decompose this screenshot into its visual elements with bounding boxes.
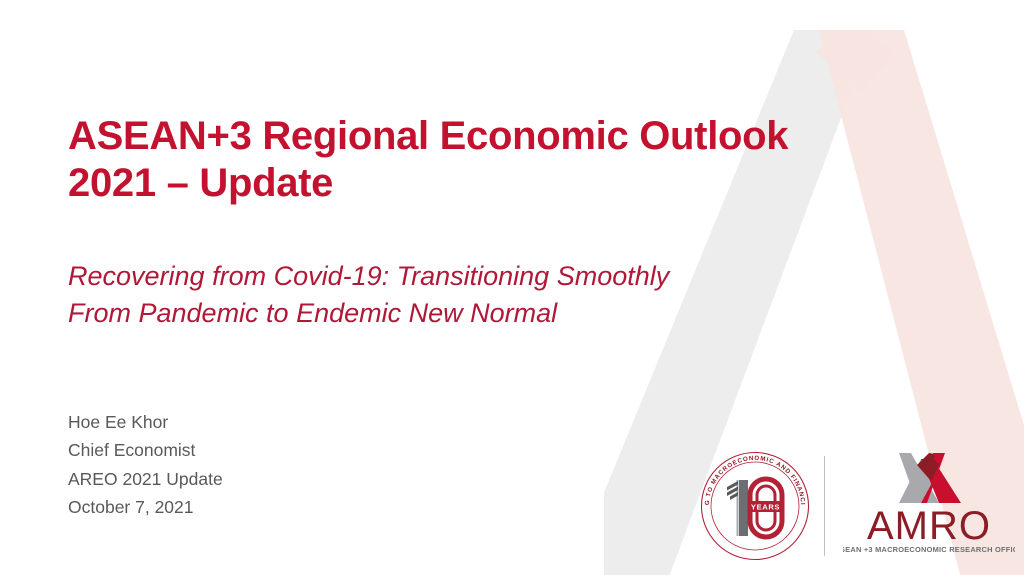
presentation-slide: ASEAN+3 Regional Economic Outlook 2021 –… bbox=[0, 0, 1024, 575]
watermark-gray-apex bbox=[794, 35, 872, 90]
amro-wordmark: AMRO bbox=[867, 504, 991, 548]
watermark-pink-apex bbox=[816, 35, 896, 92]
slide-title: ASEAN+3 Regional Economic Outlook 2021 –… bbox=[68, 113, 898, 207]
amro-tagline: ASEAN +3 MACROECONOMIC RESEARCH OFFICE bbox=[843, 545, 1015, 554]
amro-10-years-emblem: CONTRIBUTING TO MACROECONOMIC AND FINANC… bbox=[697, 448, 813, 564]
amro-logo: AMRO ASEAN +3 MACROECONOMIC RESEARCH OFF… bbox=[843, 447, 1015, 557]
presenter-title: Chief Economist bbox=[68, 436, 223, 464]
presenter-details: Hoe Ee Khor Chief Economist AREO 2021 Up… bbox=[68, 408, 223, 521]
title-line-2: 2021 – Update bbox=[68, 160, 898, 207]
presenter-name: Hoe Ee Khor bbox=[68, 408, 223, 436]
presentation-date: October 7, 2021 bbox=[68, 493, 223, 521]
publication-name: AREO 2021 Update bbox=[68, 465, 223, 493]
subtitle-line-2: From Pandemic to Endemic New Normal bbox=[68, 295, 898, 332]
title-line-1: ASEAN+3 Regional Economic Outlook bbox=[68, 113, 898, 160]
emblem-numeral-one bbox=[727, 480, 748, 536]
subtitle-line-1: Recovering from Covid-19: Transitioning … bbox=[68, 258, 898, 295]
slide-subtitle: Recovering from Covid-19: Transitioning … bbox=[68, 258, 898, 333]
logo-divider bbox=[824, 456, 825, 556]
amro-chevron-mark bbox=[899, 453, 961, 503]
emblem-years-label: YEARS bbox=[751, 502, 780, 511]
